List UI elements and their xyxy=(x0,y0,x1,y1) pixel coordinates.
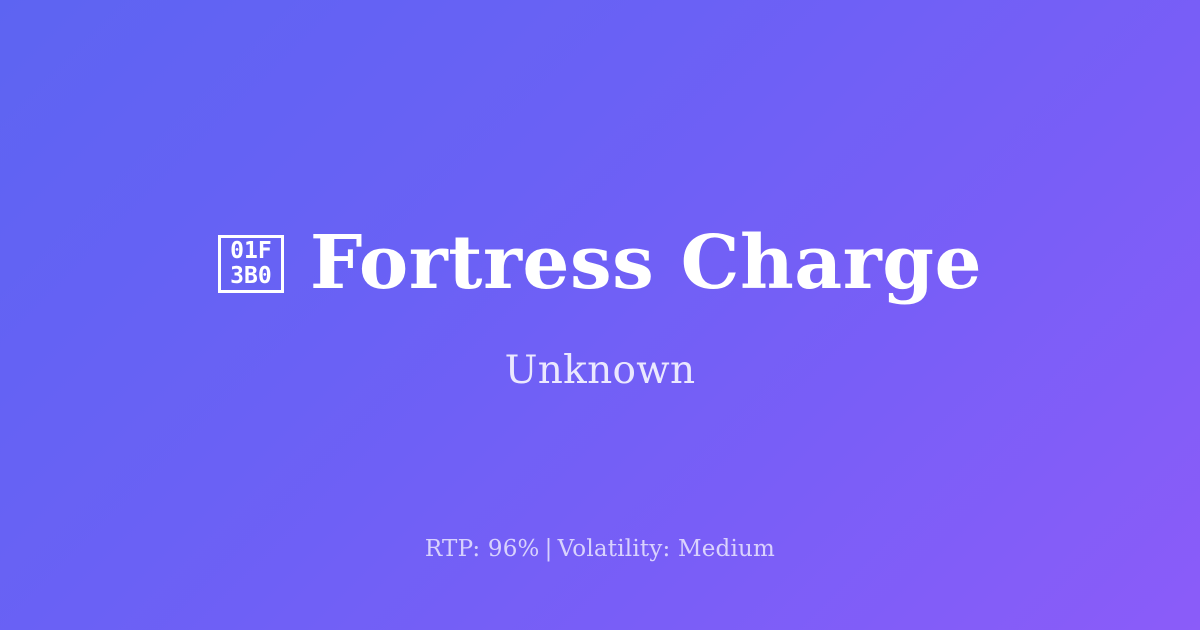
game-title-text: Fortress Charge xyxy=(310,225,982,303)
rtp-value: RTP: 96% xyxy=(425,536,540,562)
page-title: 01F 3B0 Fortress Charge xyxy=(218,225,982,303)
slot-machine-emoji-icon: 01F 3B0 xyxy=(218,235,284,293)
og-share-card: 01F 3B0 Fortress Charge Unknown RTP: 96%… xyxy=(0,0,1200,630)
meta-separator: | xyxy=(540,536,558,562)
volatility-value: Volatility: Medium xyxy=(558,536,775,562)
codepoint-upper: 01F xyxy=(230,239,272,264)
game-stats-line: RTP: 96%|Volatility: Medium xyxy=(0,536,1200,562)
game-provider-subtitle: Unknown xyxy=(505,348,696,393)
codepoint-lower: 3B0 xyxy=(230,264,272,289)
